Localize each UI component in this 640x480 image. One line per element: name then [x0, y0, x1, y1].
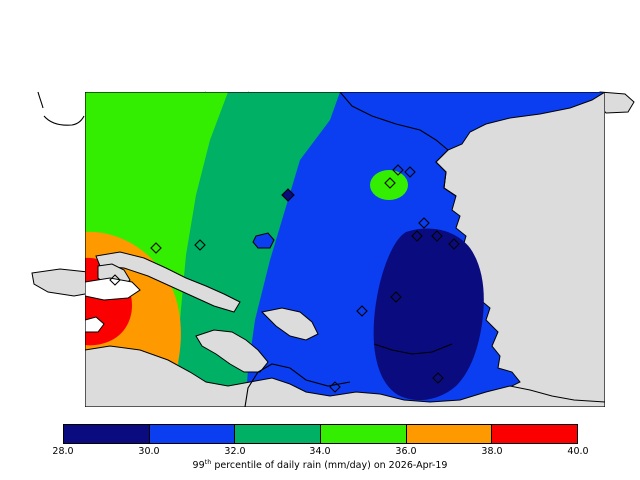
colorbar-segment-36-38[interactable] [406, 425, 492, 443]
weather-map-page: VictoriaWeather.ca —— Year Total Daily R… [0, 0, 640, 480]
colorbar-segment-28-30[interactable] [64, 425, 149, 443]
colorbar-tick: 30.0 [138, 446, 159, 457]
map-figure [0, 20, 640, 415]
colorbar-tick: 34.0 [309, 446, 330, 457]
colorbar-segment-30-32[interactable] [149, 425, 235, 443]
colorbar-tick: 40.0 [567, 446, 588, 457]
colorbar[interactable] [63, 424, 578, 444]
colorbar-tick: 28.0 [52, 446, 73, 457]
map-canvas[interactable] [0, 20, 640, 415]
caption-rest: percentile of daily rain (mm/day) on 202… [211, 460, 447, 471]
colorbar-tick: 38.0 [481, 446, 502, 457]
local-max-bullseye [370, 170, 408, 200]
colorbar-caption: 99th percentile of daily rain (mm/day) o… [0, 458, 640, 471]
colorbar-segment-38-40[interactable] [491, 425, 577, 443]
caption-prefix: 99 [193, 460, 205, 471]
colorbar-segment-34-36[interactable] [320, 425, 406, 443]
colorbar-segment-32-34[interactable] [234, 425, 320, 443]
colorbar-tick: 32.0 [224, 446, 245, 457]
map-frame-content [85, 92, 605, 412]
colorbar-tick: 36.0 [395, 446, 416, 457]
